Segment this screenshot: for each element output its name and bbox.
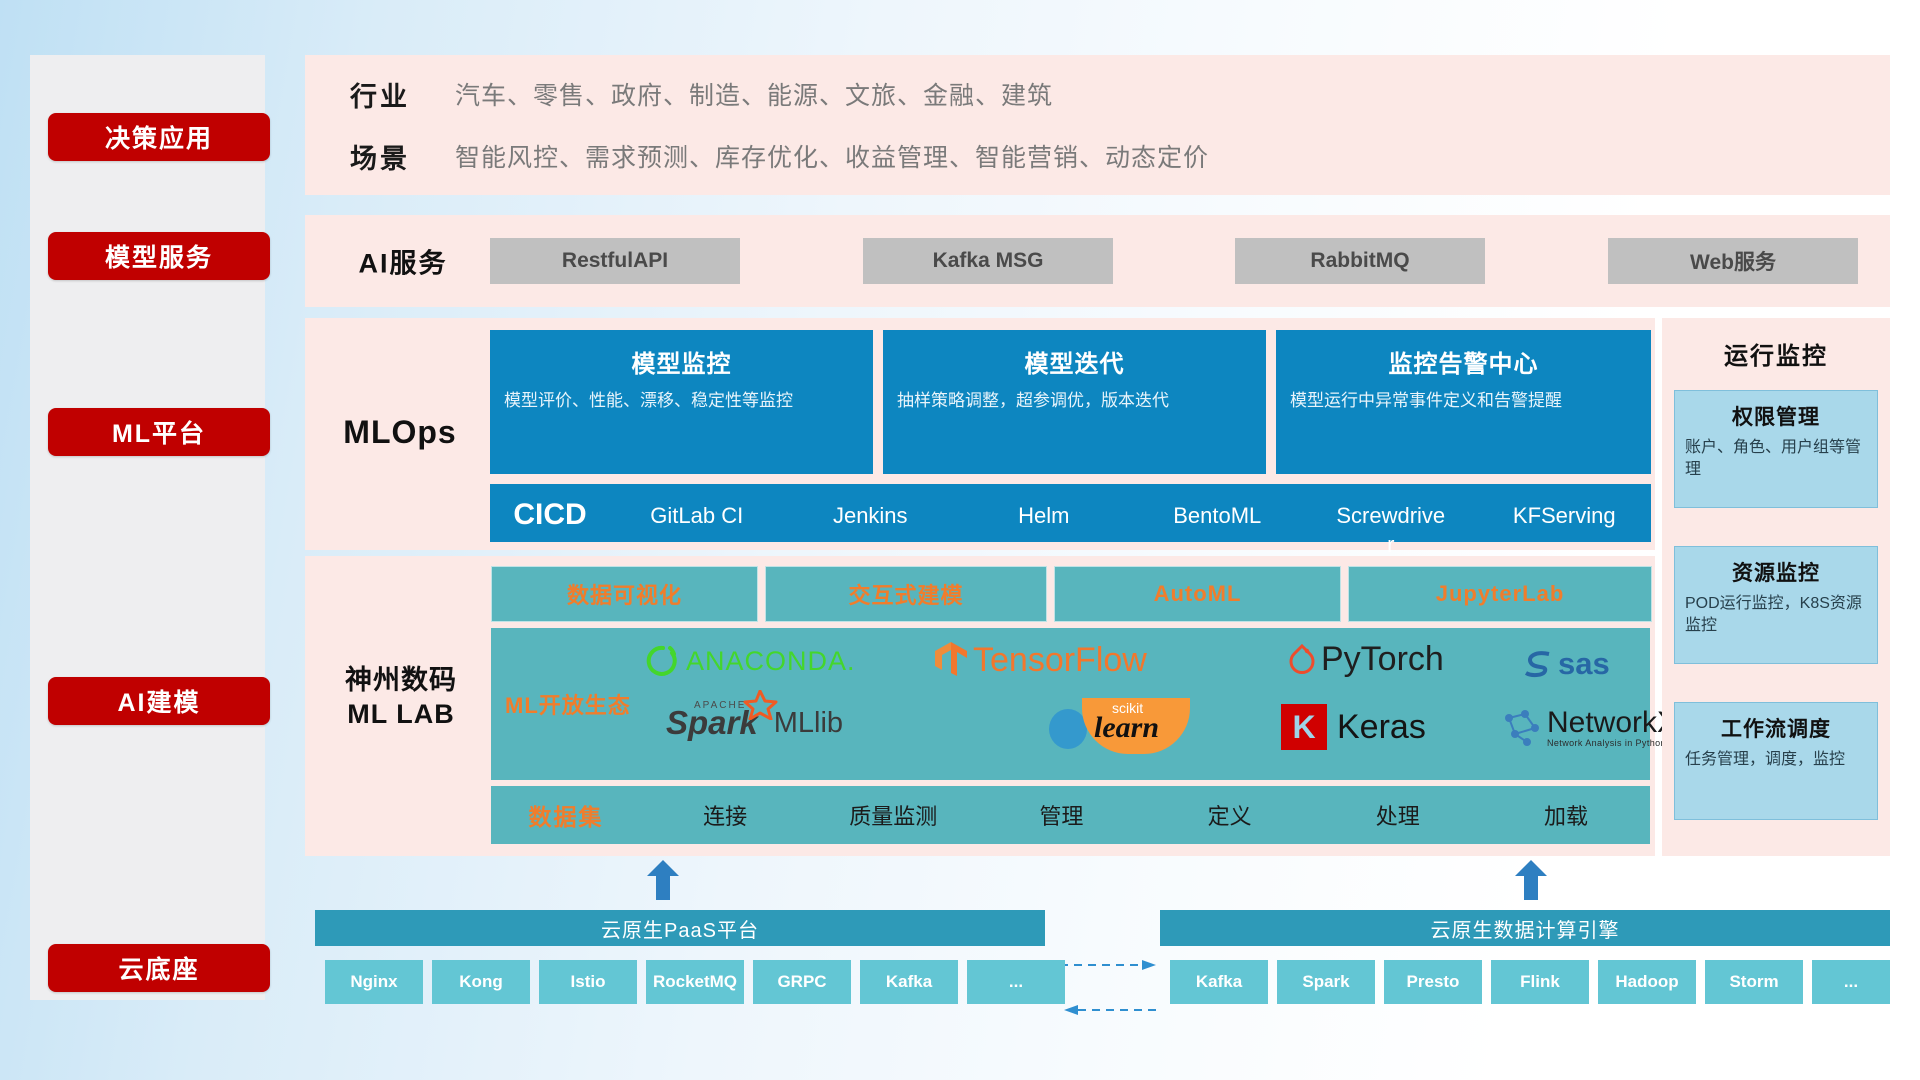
- sidebar-item-ai-modeling[interactable]: AI建模: [48, 677, 270, 725]
- dataset-item-connect[interactable]: 连接: [641, 799, 809, 831]
- card-desc: 模型评价、性能、漂移、稳定性等监控: [504, 389, 859, 414]
- chip-label: ...: [1844, 973, 1858, 992]
- ai-service-label: AI服务: [323, 242, 483, 281]
- sidebar-item-label: 模型服务: [105, 238, 213, 274]
- cicd-item-label: Jenkins: [833, 502, 908, 531]
- scenario-row: 场景 智能风控、需求预测、库存优化、收益管理、智能营销、动态定价: [305, 125, 1890, 187]
- dataset-item-quality-monitor[interactable]: 质量监测: [809, 799, 977, 831]
- dataset-item-process[interactable]: 处理: [1314, 799, 1482, 831]
- cicd-item-bentoml[interactable]: BentoML: [1131, 484, 1305, 531]
- pytorch-label: PyTorch: [1321, 640, 1444, 679]
- scikit-learn-logo: scikit learn: [1046, 698, 1190, 754]
- learn-label: learn: [1094, 711, 1159, 745]
- engine-chip-flink[interactable]: Flink: [1491, 960, 1589, 1004]
- card-desc: 账户、角色、用户组等管理: [1685, 437, 1867, 482]
- cicd-item-label: KFServing: [1513, 502, 1616, 531]
- paas-chip-nginx[interactable]: Nginx: [325, 960, 423, 1004]
- dataset-row: 数据集 连接 质量监测 管理 定义 处理 加载: [491, 786, 1650, 844]
- arrow-up-data-engine-icon: [1513, 860, 1549, 900]
- card-desc: 任务管理，调度，监控: [1685, 749, 1867, 771]
- chip-label: AutoML: [1154, 581, 1242, 607]
- ai-service-panel: AI服务 RestfulAPI Kafka MSG RabbitMQ Web服务: [305, 215, 1890, 307]
- chip-label: Kafka MSG: [933, 249, 1044, 273]
- scenario-label: 场景: [305, 137, 455, 176]
- chip-label: JupyterLab: [1436, 581, 1565, 607]
- item-label: 质量监测: [849, 804, 937, 829]
- left-rail: [30, 55, 265, 1000]
- tensorflow-logo: TensorFlow: [931, 640, 1147, 680]
- cicd-bar: CICD GitLab CI Jenkins Helm BentoML Scre…: [490, 484, 1651, 542]
- card-desc: 抽样策略调整，超参调优，版本迭代: [897, 389, 1252, 414]
- engine-chip-kafka[interactable]: Kafka: [1170, 960, 1268, 1004]
- engine-chip-more[interactable]: ...: [1812, 960, 1890, 1004]
- ml-lab-label-line2: ML LAB: [311, 698, 491, 732]
- lab-chip-data-visualization[interactable]: 数据可视化: [491, 566, 758, 622]
- ai-service-chip-rabbitmq[interactable]: RabbitMQ: [1235, 238, 1485, 284]
- card-title: 权限管理: [1685, 401, 1867, 431]
- paas-chip-kafka[interactable]: Kafka: [860, 960, 958, 1004]
- sidebar-item-label: 决策应用: [105, 119, 213, 155]
- networkx-logo: NetworkX Network Analysis in Python: [1501, 708, 1677, 748]
- engine-chip-spark[interactable]: Spark: [1277, 960, 1375, 1004]
- mlops-card-model-iteration[interactable]: 模型迭代 抽样策略调整，超参调优，版本迭代: [883, 330, 1266, 474]
- paas-chip-kong[interactable]: Kong: [432, 960, 530, 1004]
- sidebar-item-label: AI建模: [117, 683, 200, 719]
- industry-label: 行业: [305, 75, 455, 114]
- industry-value: 汽车、零售、政府、制造、能源、文旅、金融、建筑: [455, 76, 1053, 112]
- card-title: 模型迭代: [897, 344, 1252, 379]
- monitoring-card-workflow[interactable]: 工作流调度 任务管理，调度，监控: [1674, 702, 1878, 820]
- paas-platform-bar: 云原生PaaS平台: [315, 910, 1045, 946]
- engine-chip-presto[interactable]: Presto: [1384, 960, 1482, 1004]
- item-label: 定义: [1208, 804, 1252, 829]
- dashed-arrow-right-icon: [1060, 955, 1160, 975]
- lab-chip-automl[interactable]: AutoML: [1054, 566, 1341, 622]
- industry-row: 行业 汽车、零售、政府、制造、能源、文旅、金融、建筑: [305, 55, 1890, 125]
- sidebar-item-ml-platform[interactable]: ML平台: [48, 408, 270, 456]
- sas-mark: [1521, 649, 1557, 679]
- item-label: 加载: [1544, 804, 1588, 829]
- paas-chip-grpc[interactable]: GRPC: [753, 960, 851, 1004]
- chip-label: Hadoop: [1615, 973, 1678, 992]
- dataset-item-load[interactable]: 加载: [1482, 799, 1650, 831]
- tensorflow-label: TensorFlow: [973, 641, 1147, 680]
- lab-chip-jupyterlab[interactable]: JupyterLab: [1348, 566, 1652, 622]
- paas-chip-rocketmq[interactable]: RocketMQ: [646, 960, 744, 1004]
- card-desc: 模型运行中异常事件定义和告警提醒: [1290, 389, 1637, 414]
- chip-label: 数据可视化: [567, 578, 682, 610]
- networkx-label: NetworkX: [1547, 708, 1677, 738]
- chip-label: Istio: [571, 973, 606, 992]
- monitoring-panel: 运行监控 权限管理 账户、角色、用户组等管理 资源监控 POD运行监控，K8S资…: [1662, 318, 1890, 856]
- pytorch-mark: [1286, 642, 1318, 678]
- keras-logo: K Keras: [1281, 704, 1426, 750]
- dataset-item-define[interactable]: 定义: [1146, 799, 1314, 831]
- chip-label: GRPC: [777, 973, 826, 992]
- ai-service-chip-kafka-msg[interactable]: Kafka MSG: [863, 238, 1113, 284]
- chip-label: Flink: [1520, 973, 1560, 992]
- item-label: 处理: [1376, 804, 1420, 829]
- mlops-card-alert-center[interactable]: 监控告警中心 模型运行中异常事件定义和告警提醒: [1276, 330, 1651, 474]
- mllib-label: MLlib: [774, 707, 843, 740]
- chip-label: Spark: [1302, 973, 1349, 992]
- paas-chip-istio[interactable]: Istio: [539, 960, 637, 1004]
- pytorch-logo: PyTorch: [1286, 640, 1444, 679]
- data-engine-bar: 云原生数据计算引擎: [1160, 910, 1890, 946]
- spark-star-icon: [740, 690, 782, 720]
- cicd-title: CICD: [490, 484, 610, 532]
- paas-chip-more[interactable]: ...: [967, 960, 1065, 1004]
- ml-lab-panel: 神州数码 ML LAB 数据可视化 交互式建模 AutoML JupyterLa…: [305, 556, 1655, 856]
- spark-mllib-logo: APACHE Spark MLlib: [666, 704, 843, 742]
- chip-label: ...: [1009, 973, 1023, 992]
- keras-label: Keras: [1337, 708, 1426, 747]
- sidebar-item-cloud-base[interactable]: 云底座: [48, 944, 270, 992]
- chip-label: RestfulAPI: [562, 249, 668, 273]
- dashed-arrow-left-icon: [1060, 1000, 1160, 1020]
- data-engine-label: 云原生数据计算引擎: [1431, 914, 1620, 943]
- dataset-label: 数据集: [491, 798, 641, 832]
- cicd-item-gitlab-ci[interactable]: GitLab CI: [610, 484, 784, 531]
- anaconda-label: ANACONDA.: [686, 646, 856, 677]
- networkx-tagline: Network Analysis in Python: [1547, 738, 1677, 748]
- ml-lab-label-line1: 神州数码: [311, 664, 491, 698]
- scikit-orange-blob: scikit learn: [1082, 698, 1190, 754]
- lab-chip-interactive-modeling[interactable]: 交互式建模: [765, 566, 1047, 622]
- mlops-label: MLOps: [315, 414, 485, 451]
- monitoring-card-resource[interactable]: 资源监控 POD运行监控，K8S资源监控: [1674, 546, 1878, 664]
- card-desc: POD运行监控，K8S资源监控: [1685, 593, 1867, 638]
- chip-label: Kafka: [1196, 973, 1242, 992]
- ml-lab-label: 神州数码 ML LAB: [311, 664, 491, 732]
- card-title: 工作流调度: [1685, 713, 1867, 743]
- paas-platform-label: 云原生PaaS平台: [601, 914, 759, 943]
- cicd-item-label: Helm: [1018, 502, 1069, 531]
- apache-label: APACHE: [694, 700, 746, 711]
- sidebar-item-label: ML平台: [112, 414, 206, 450]
- engine-chip-hadoop[interactable]: Hadoop: [1598, 960, 1696, 1004]
- card-title: 监控告警中心: [1290, 344, 1637, 379]
- industry-scenario-panel: 行业 汽车、零售、政府、制造、能源、文旅、金融、建筑 场景 智能风控、需求预测、…: [305, 55, 1890, 195]
- sidebar-item-label: 云底座: [118, 950, 199, 986]
- card-title: 模型监控: [504, 344, 859, 379]
- cicd-item-label: Screwdriver: [1335, 502, 1447, 559]
- chip-label: Presto: [1407, 973, 1460, 992]
- sas-logo: sas: [1521, 646, 1610, 682]
- cicd-item-helm[interactable]: Helm: [957, 484, 1131, 531]
- chip-label: RocketMQ: [653, 973, 737, 992]
- item-label: 连接: [703, 804, 747, 829]
- engine-chip-storm[interactable]: Storm: [1705, 960, 1803, 1004]
- cicd-item-label: BentoML: [1173, 502, 1261, 531]
- ai-service-chip-web-service[interactable]: Web服务: [1608, 238, 1858, 284]
- chip-label: Web服务: [1690, 246, 1776, 276]
- cicd-item-screwdriver[interactable]: Screwdriver: [1304, 484, 1478, 559]
- cicd-item-kfserving[interactable]: KFServing: [1478, 484, 1652, 531]
- keras-mark-letter: K: [1292, 709, 1315, 746]
- chip-label: Storm: [1729, 973, 1778, 992]
- arrow-up-paas-icon: [645, 860, 681, 900]
- chip-label: 交互式建模: [848, 578, 963, 610]
- chip-label: Kafka: [886, 973, 932, 992]
- ml-ecosystem-box: ML开放生态 ANACONDA. TensorFlow: [491, 628, 1650, 780]
- mlops-panel: MLOps 模型监控 模型评价、性能、漂移、稳定性等监控 模型迭代 抽样策略调整…: [305, 318, 1655, 550]
- networkx-mark: [1501, 708, 1543, 748]
- chip-label: Kong: [459, 973, 502, 992]
- tensorflow-mark: [931, 640, 971, 680]
- chip-label: RabbitMQ: [1310, 249, 1409, 273]
- monitoring-title: 运行监控: [1662, 336, 1890, 371]
- item-label: 管理: [1039, 804, 1083, 829]
- cicd-item-label: GitLab CI: [650, 502, 743, 531]
- scenario-value: 智能风控、需求预测、库存优化、收益管理、智能营销、动态定价: [455, 138, 1209, 174]
- keras-mark: K: [1281, 704, 1327, 750]
- dataset-item-manage[interactable]: 管理: [977, 799, 1145, 831]
- card-title: 资源监控: [1685, 557, 1867, 587]
- mlops-card-model-monitoring[interactable]: 模型监控 模型评价、性能、漂移、稳定性等监控: [490, 330, 873, 474]
- sas-label: sas: [1558, 646, 1610, 682]
- ml-ecosystem-label: ML开放生态: [505, 688, 631, 720]
- anaconda-logo: ANACONDA.: [646, 644, 856, 678]
- ai-service-chip-restfulapi[interactable]: RestfulAPI: [490, 238, 740, 284]
- anaconda-mark: [646, 644, 680, 678]
- chip-label: Nginx: [350, 973, 397, 992]
- monitoring-card-permission[interactable]: 权限管理 账户、角色、用户组等管理: [1674, 390, 1878, 508]
- sidebar-item-model-service[interactable]: 模型服务: [48, 232, 270, 280]
- cicd-item-jenkins[interactable]: Jenkins: [784, 484, 958, 531]
- sidebar-item-decision-app[interactable]: 决策应用: [48, 113, 270, 161]
